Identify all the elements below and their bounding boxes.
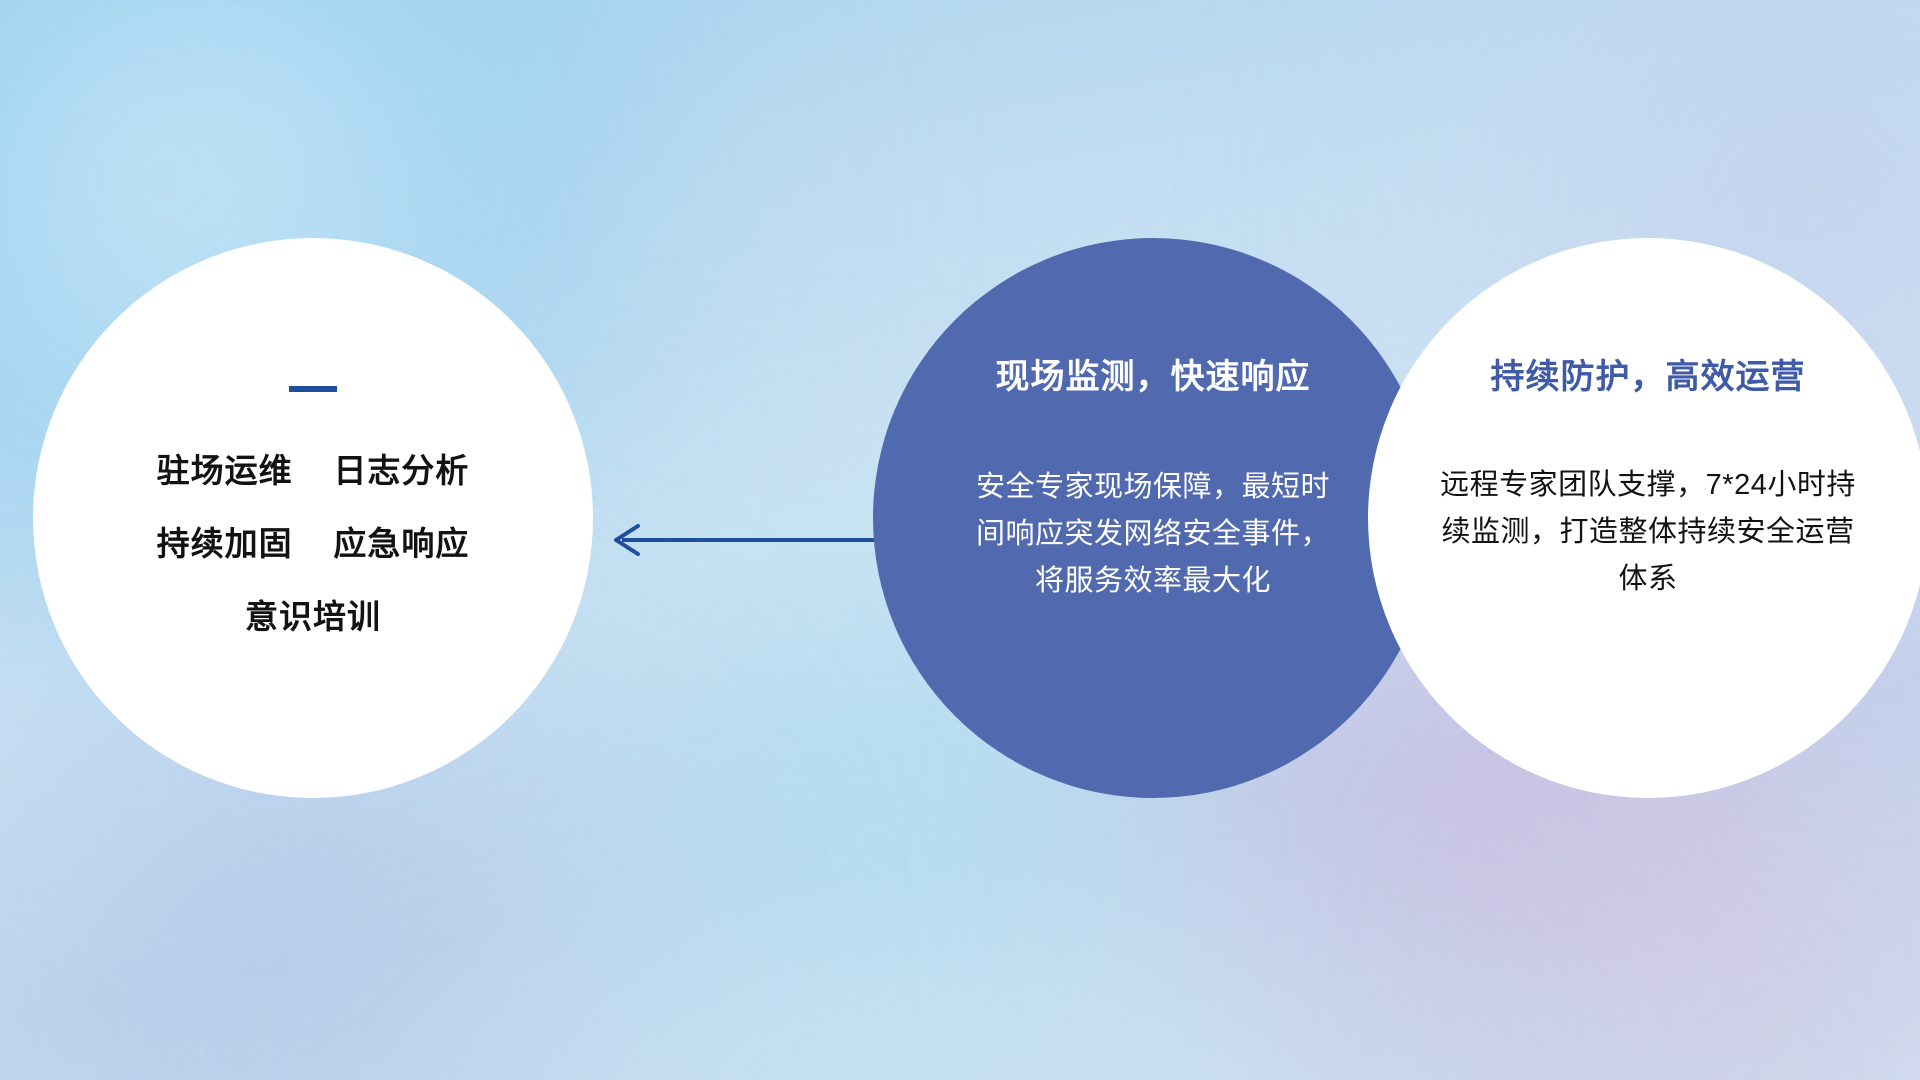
right-circle-title: 持续防护，高效运营 <box>1491 360 1806 394</box>
flow-arrow-left-icon <box>600 520 890 560</box>
middle-circle-body: 安全专家现场保障，最短时间响应突发网络安全事件，将服务效率最大化 <box>963 464 1343 605</box>
accent-rule-divider <box>289 386 337 392</box>
middle-circle-card[interactable]: 现场监测，快速响应 安全专家现场保障，最短时间响应突发网络安全事件，将服务效率最… <box>873 238 1433 798</box>
left-circle-line-1: 驻场运维 日志分析 <box>157 454 470 487</box>
right-circle-content: 持续防护，高效运营 远程专家团队支撑，7*24小时持续监测，打造整体持续安全运营… <box>1368 238 1920 603</box>
middle-circle-title: 现场监测，快速响应 <box>996 360 1311 394</box>
left-circle-card[interactable]: 驻场运维 日志分析 持续加固 应急响应 意识培训 <box>33 238 593 798</box>
left-circle-line-3: 意识培训 <box>245 600 381 633</box>
middle-circle-content: 现场监测，快速响应 安全专家现场保障，最短时间响应突发网络安全事件，将服务效率最… <box>873 238 1433 605</box>
right-circle-body: 远程专家团队支撑，7*24小时持续监测，打造整体持续安全运营体系 <box>1438 462 1858 603</box>
slide-canvas: 驻场运维 日志分析 持续加固 应急响应 意识培训 现场监测，快速响应 安全专家现… <box>0 0 1920 1080</box>
right-circle-card[interactable]: 持续防护，高效运营 远程专家团队支撑，7*24小时持续监测，打造整体持续安全运营… <box>1368 238 1920 798</box>
left-circle-line-2: 持续加固 应急响应 <box>157 527 470 560</box>
left-circle-content: 驻场运维 日志分析 持续加固 应急响应 意识培训 <box>33 238 593 633</box>
